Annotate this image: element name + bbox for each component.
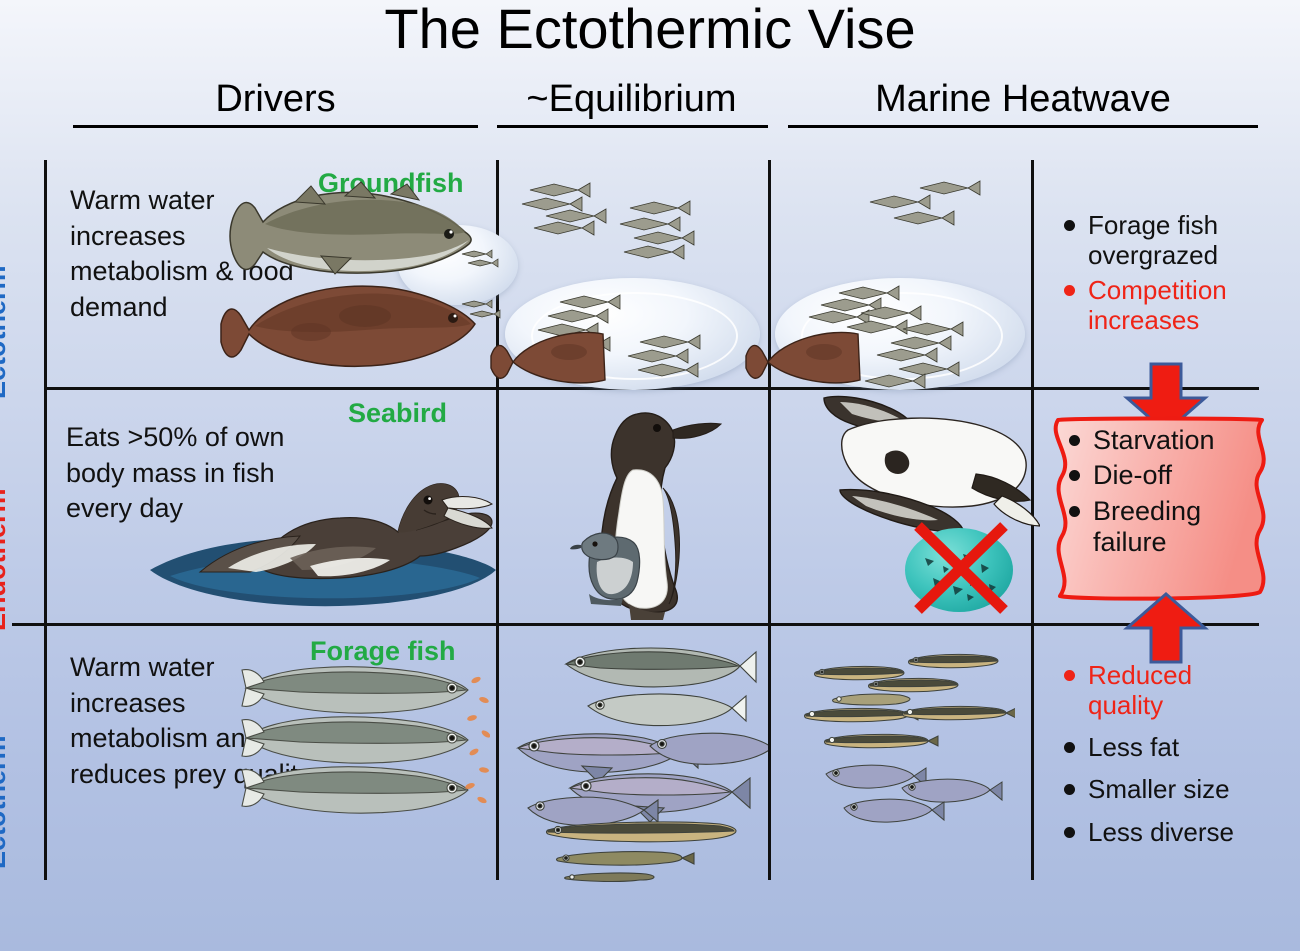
outcome-item: Less fat — [1060, 732, 1270, 762]
outcome-item: Breeding failure — [1065, 496, 1265, 559]
side-label-ectotherm-top: Ectotherm — [0, 265, 12, 399]
red-x-icon — [900, 518, 1020, 618]
forage-school-heatwave-top — [860, 178, 1010, 248]
forage-school-equilibrium-top — [520, 172, 735, 272]
flatfish-illustration — [215, 272, 485, 377]
outcome-item: Die-off — [1065, 460, 1265, 491]
side-label-endotherm: Endotherm — [0, 488, 12, 631]
diagram-canvas: The Ectothermic Vise Drivers ~Equilibriu… — [0, 0, 1300, 951]
column-header-heatwave: Marine Heatwave — [788, 78, 1258, 121]
forage-fish-small-group-drivers — [458, 246, 518, 272]
flatfish-equilibrium — [487, 322, 607, 392]
grid-vline-left-row2 — [44, 390, 47, 623]
grid-vline-equilibrium-heatwave — [768, 160, 771, 880]
outcome-list-vise: Starvation Die-off Breeding failure — [1065, 425, 1265, 562]
outcome-item: Forage fish overgrazed — [1060, 210, 1265, 270]
outcome-item: Competition increases — [1060, 275, 1265, 335]
outcome-list-bottom: Reduced quality Less fat Smaller size Le… — [1060, 660, 1270, 852]
column-header-drivers: Drivers — [73, 78, 478, 121]
outcome-list-top: Forage fish overgrazed Competition incre… — [1060, 210, 1265, 341]
outcome-item: Reduced quality — [1060, 660, 1270, 720]
flatfish-heatwave — [742, 322, 862, 392]
forage-fish-assemblage-heatwave — [800, 648, 1015, 838]
column-header-rule-heatwave — [788, 125, 1258, 128]
swimming-murre-illustration — [140, 430, 500, 620]
side-label-ectotherm-bottom: Ectotherm — [0, 735, 12, 869]
column-header-equilibrium: ~Equilibrium — [494, 78, 769, 121]
forage-fish-assemblage-equilibrium — [508, 638, 768, 882]
column-header-rule-drivers — [73, 125, 478, 128]
outcome-item: Starvation — [1065, 425, 1265, 456]
standing-murre-with-chick-illustration — [545, 396, 735, 624]
grid-vline-left-row3 — [44, 626, 47, 880]
column-header-rule-equilibrium — [497, 125, 768, 128]
outcome-item: Less diverse — [1060, 817, 1270, 847]
tag-label-seabird: Seabird — [348, 398, 447, 429]
page-title: The Ectothermic Vise — [0, 0, 1300, 61]
outcome-item: Smaller size — [1060, 774, 1270, 804]
forage-fish-stack-drivers — [240, 660, 490, 840]
arrow-up-icon — [1123, 592, 1209, 664]
grid-vline-left-row1 — [44, 160, 47, 388]
